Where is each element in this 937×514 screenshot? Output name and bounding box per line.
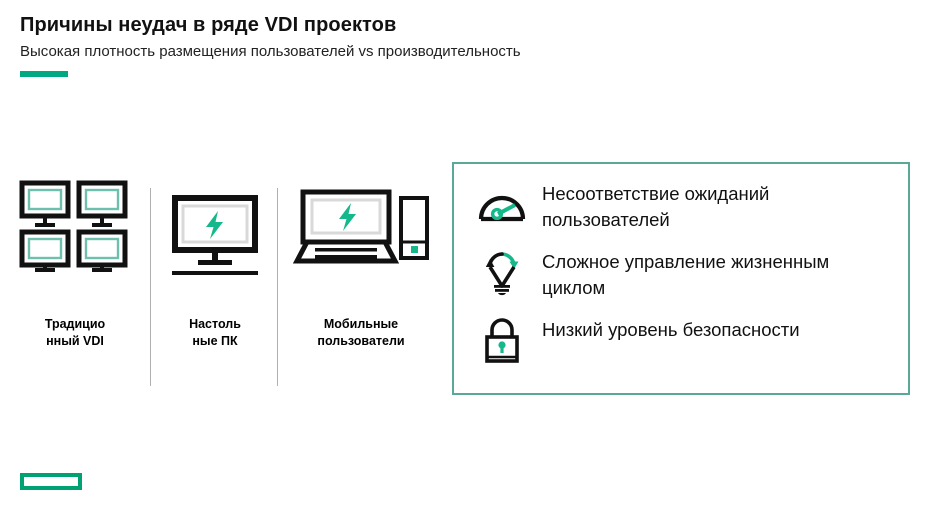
group-divider xyxy=(150,188,151,386)
desktop-monitor-icon xyxy=(160,180,270,310)
four-monitors-icon xyxy=(8,180,142,310)
gauge-icon xyxy=(474,178,530,234)
padlock-icon xyxy=(474,314,530,370)
device-group-label: Мобильные пользователи xyxy=(288,316,434,349)
issue-item: Сложное управление жизненным циклом xyxy=(474,246,892,302)
issue-item: Несоответствие ожиданий пользователей xyxy=(474,178,892,234)
page-title: Причины неудач в ряде VDI проектов xyxy=(20,14,396,37)
device-group-mobile-users: Мобильные пользователи xyxy=(288,180,434,390)
device-categories-diagram: Традицио нный VDI Настоль ные ПК xyxy=(0,180,440,390)
device-group-traditional-vdi: Традицио нный VDI xyxy=(8,180,142,390)
device-group-label-line1: Традицио xyxy=(45,317,105,331)
issue-label: Несоответствие ожиданий пользователей xyxy=(542,178,892,234)
issue-label: Сложное управление жизненным циклом xyxy=(542,246,892,302)
device-group-label-line1: Мобильные xyxy=(324,317,398,331)
page-subtitle: Высокая плотность размещения пользовател… xyxy=(20,43,521,60)
device-group-label-line2: ные ПК xyxy=(192,334,237,348)
device-group-label: Традицио нный VDI xyxy=(8,316,142,349)
device-group-label-line2: пользователи xyxy=(317,334,404,348)
lifecycle-bulb-icon xyxy=(474,246,530,302)
title-accent-bar xyxy=(20,71,68,77)
device-group-label-line2: нный VDI xyxy=(46,334,104,348)
laptop-and-phone-icon xyxy=(288,180,434,310)
issue-item: Низкий уровень безопасности xyxy=(474,314,800,370)
hpe-logo xyxy=(20,473,82,490)
issue-label: Низкий уровень безопасности xyxy=(542,314,800,343)
device-group-desktop-pc: Настоль ные ПК xyxy=(160,180,270,390)
issues-panel: Несоответствие ожиданий пользователей Сл… xyxy=(452,162,910,395)
group-divider xyxy=(277,188,278,386)
device-group-label-line1: Настоль xyxy=(189,317,241,331)
device-group-label: Настоль ные ПК xyxy=(160,316,270,349)
